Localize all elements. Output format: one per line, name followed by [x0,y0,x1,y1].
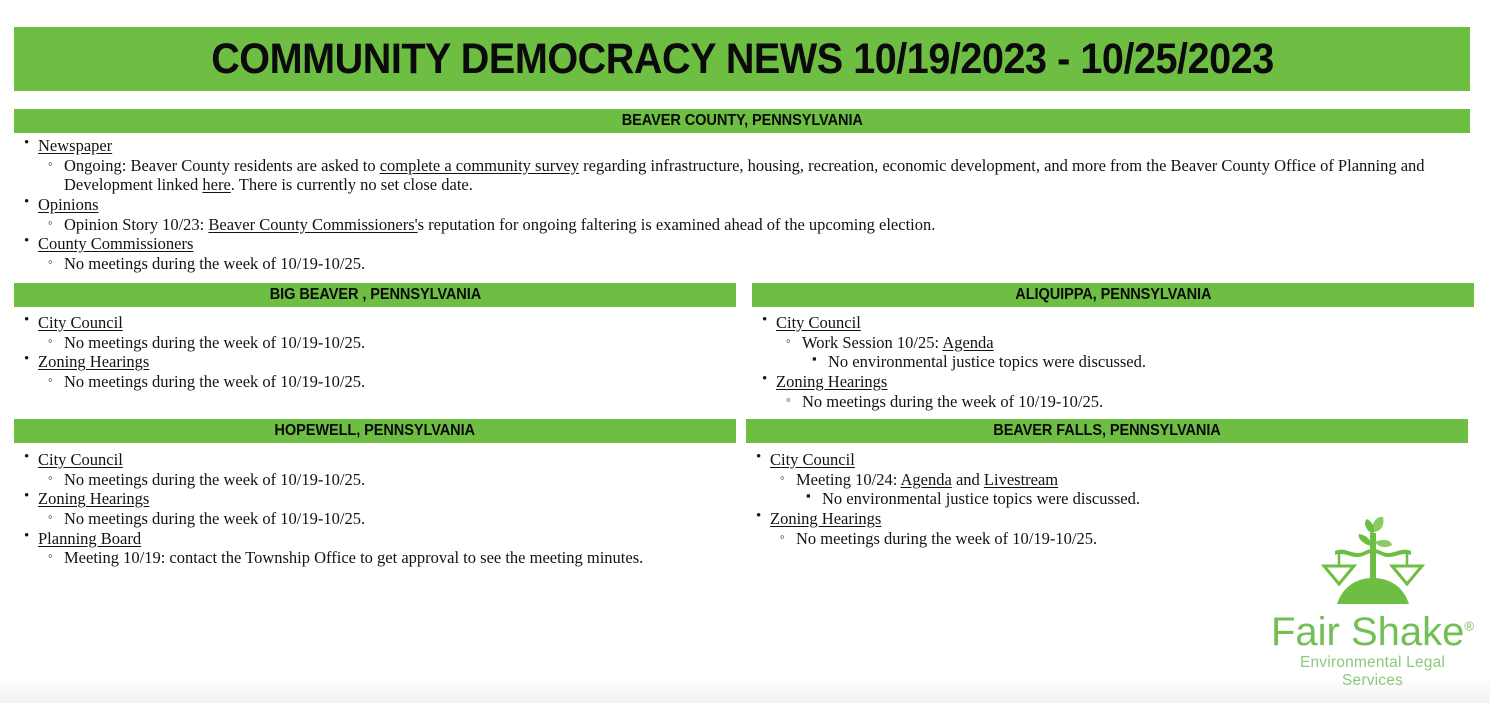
list-item: Opinion Story 10/23: Beaver County Commi… [38,215,1470,235]
entry-text-before: No meetings during the week of 10/19-10/… [64,254,365,273]
group-label: Zoning Hearings [38,489,149,508]
logo-wordmark-text: Fair Shake [1271,610,1464,654]
entry-list: Opinion Story 10/23: Beaver County Commi… [38,215,1470,235]
entry-list: No meetings during the week of 10/19-10/… [38,372,736,392]
entry-list: No meetings during the week of 10/19-10/… [38,254,1470,274]
group-label: Zoning Hearings [776,372,887,391]
section-content-hopewell: City Council No meetings during the week… [14,450,736,568]
link-here[interactable]: here [202,175,230,194]
logo-tagline: Environmental Legal Services [1270,654,1475,690]
entry-list: No meetings during the week of 10/19-10/… [38,509,736,529]
group-list: Newspaper Ongoing: Beaver County residen… [14,136,1470,273]
fair-shake-logo: Fair Shake® Environmental Legal Services [1270,516,1475,688]
list-item: Planning Board Meeting 10/19: contact th… [14,529,736,568]
entry-text-before: Ongoing: Beaver County residents are ask… [64,156,380,175]
list-item: City Council No meetings during the week… [14,450,736,489]
group-label: Planning Board [38,529,141,548]
entry-text-after: . There is currently no set close date. [231,175,473,194]
list-item: City Council Work Session 10/25: Agenda … [752,313,1474,372]
section-header-hopewell: HOPEWELL, PENNSYLVANIA [14,419,736,443]
group-label: Zoning Hearings [38,352,149,371]
entry-list: Ongoing: Beaver County residents are ask… [38,156,1470,195]
section-content-beaver-county: Newspaper Ongoing: Beaver County residen… [14,136,1470,273]
entry-list: Meeting 10/24: Agenda and Livestream No … [770,470,1468,509]
section-header-beaver-falls: BEAVER FALLS, PENNSYLVANIA [746,419,1468,443]
group-label: County Commissioners [38,234,193,253]
group-label: City Council [770,450,855,469]
group-list: City Council Work Session 10/25: Agenda … [752,313,1474,411]
entry-list: No meetings during the week of 10/19-10/… [38,470,736,490]
logo-wordmark: Fair Shake® [1271,612,1474,652]
section-header-label: ALIQUIPPA, PENNSYLVANIA [1015,286,1211,304]
list-item: No meetings during the week of 10/19-10/… [38,470,736,490]
group-list: City Council No meetings during the week… [14,450,736,568]
scales-with-sapling-icon [1313,516,1433,608]
section-header-label: BEAVER FALLS, PENNSYLVANIA [993,422,1220,440]
newsletter-slide: COMMUNITY DEMOCRACY NEWS 10/19/2023 - 10… [0,0,1490,703]
list-item: Work Session 10/25: Agenda No environmen… [776,333,1474,372]
list-item: No meetings during the week of 10/19-10/… [776,392,1474,412]
entry-text-before: Work Session 10/25: [802,333,942,352]
group-label: City Council [38,313,123,332]
section-header-aliquippa: ALIQUIPPA, PENNSYLVANIA [752,283,1474,307]
link-community-survey[interactable]: complete a community survey [380,156,579,175]
entry-text-mid: and [952,470,984,489]
link-livestream[interactable]: Livestream [984,470,1058,489]
subitem-list: No environmental justice topics were dis… [802,352,1474,372]
list-item: City Council Meeting 10/24: Agenda and L… [746,450,1468,509]
list-item: No meetings during the week of 10/19-10/… [38,254,1470,274]
list-item: Zoning Hearings No meetings during the w… [752,372,1474,411]
list-item: Zoning Hearings No meetings during the w… [14,489,736,528]
list-item: No meetings during the week of 10/19-10/… [38,509,736,529]
section-header-beaver-county: BEAVER COUNTY, PENNSYLVANIA [14,109,1470,133]
list-item: County Commissioners No meetings during … [14,234,1470,273]
section-header-label: BIG BEAVER , PENNSYLVANIA [269,286,480,304]
list-item: No meetings during the week of 10/19-10/… [38,372,736,392]
group-label: City Council [38,450,123,469]
entry-list: Work Session 10/25: Agenda No environmen… [776,333,1474,372]
group-list: City Council No meetings during the week… [14,313,736,392]
link-agenda[interactable]: Agenda [901,470,952,489]
group-label: Newspaper [38,136,112,155]
registered-trademark-icon: ® [1464,619,1474,634]
list-item: Ongoing: Beaver County residents are ask… [38,156,1470,195]
list-item: Meeting 10/19: contact the Township Offi… [38,548,736,568]
entry-text-after: s reputation for ongoing faltering is ex… [418,215,936,234]
list-item: No meetings during the week of 10/19-10/… [38,333,736,353]
page-title: COMMUNITY DEMOCRACY NEWS 10/19/2023 - 10… [211,35,1274,84]
list-item: Newspaper Ongoing: Beaver County residen… [14,136,1470,195]
entry-list: No meetings during the week of 10/19-10/… [38,333,736,353]
list-item: Opinions Opinion Story 10/23: Beaver Cou… [14,195,1470,234]
section-header-label: HOPEWELL, PENNSYLVANIA [275,422,476,440]
section-content-aliquippa: City Council Work Session 10/25: Agenda … [752,313,1474,411]
list-item: Zoning Hearings No meetings during the w… [14,352,736,391]
group-label: Opinions [38,195,99,214]
group-label: City Council [776,313,861,332]
section-content-big-beaver: City Council No meetings during the week… [14,313,736,392]
list-item: No environmental justice topics were dis… [802,352,1474,372]
link-agenda[interactable]: Agenda [942,333,993,352]
entry-list: Meeting 10/19: contact the Township Offi… [38,548,736,568]
section-header-big-beaver: BIG BEAVER , PENNSYLVANIA [14,283,736,307]
section-header-label: BEAVER COUNTY, PENNSYLVANIA [621,112,862,130]
entry-list: No meetings during the week of 10/19-10/… [776,392,1474,412]
entry-text-before: Opinion Story 10/23: [64,215,208,234]
link-beaver-county-commissioners[interactable]: Beaver County Commissioners' [208,215,417,234]
group-label: Zoning Hearings [770,509,881,528]
bottom-shadow [0,677,1490,703]
list-item: Meeting 10/24: Agenda and Livestream No … [770,470,1468,509]
list-item: City Council No meetings during the week… [14,313,736,352]
subitem-list: No environmental justice topics were dis… [796,489,1468,509]
entry-text-before: Meeting 10/24: [796,470,901,489]
list-item: No environmental justice topics were dis… [796,489,1468,509]
page-title-banner: COMMUNITY DEMOCRACY NEWS 10/19/2023 - 10… [14,27,1470,91]
